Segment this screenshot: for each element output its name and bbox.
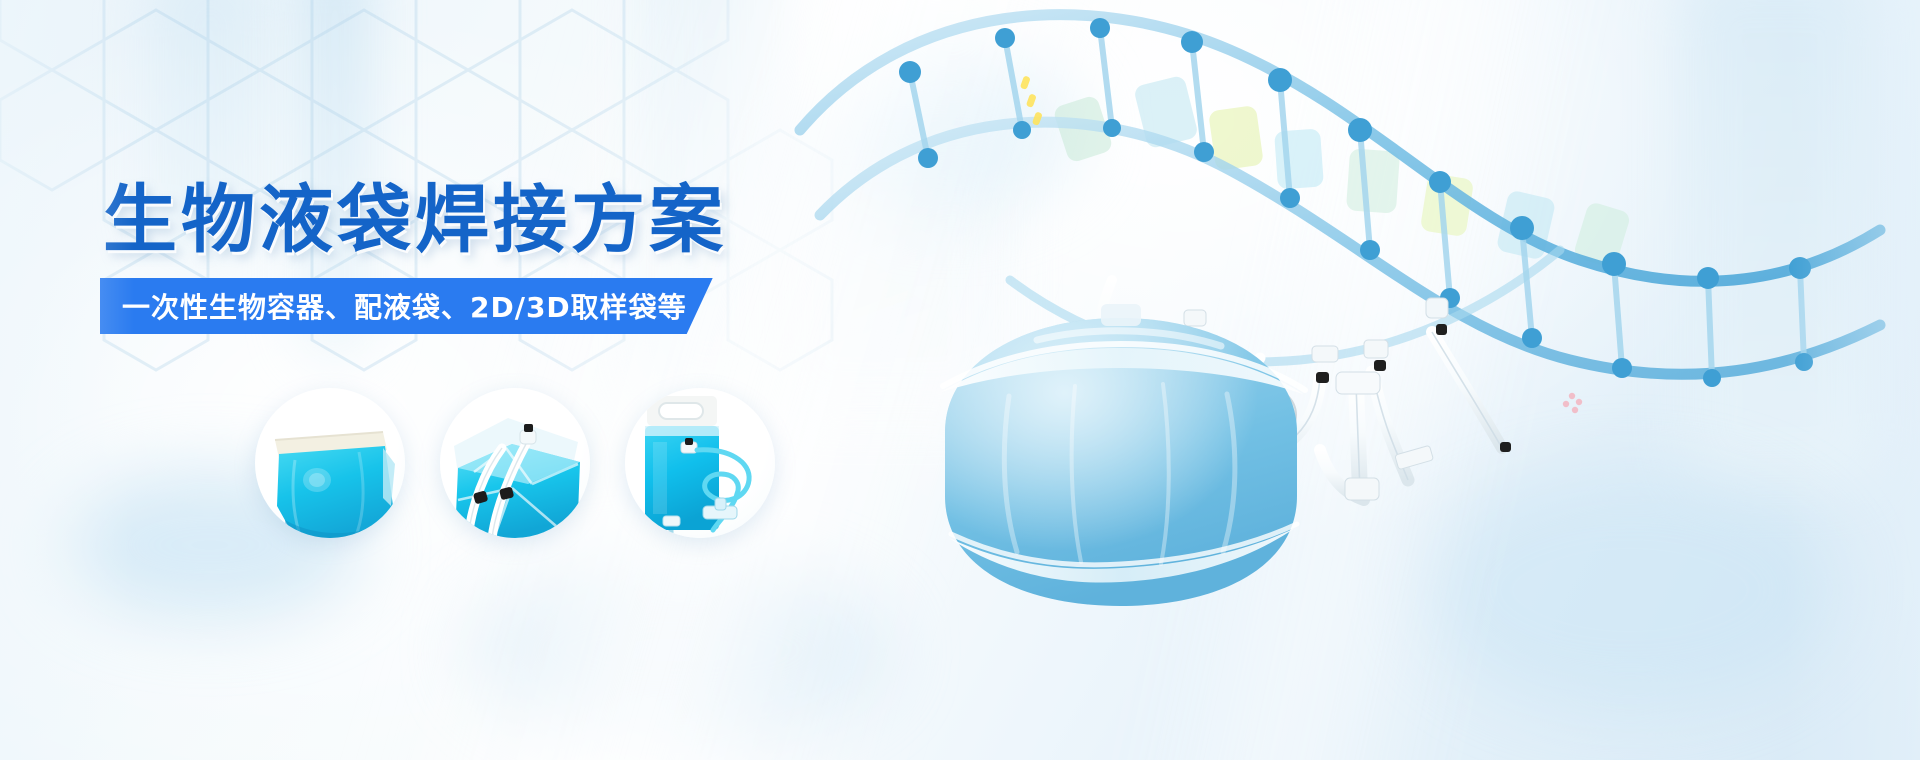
page-title: 生物液袋焊接方案 <box>103 183 727 257</box>
thumbnail-sampling-bag[interactable] <box>625 388 775 538</box>
subtitle-banner: 一次性生物容器、配液袋、2D/3D取样袋等 <box>100 278 713 334</box>
hero-banner: 生物液袋焊接方案 一次性生物容器、配液袋、2D/3D取样袋等 <box>0 0 1920 760</box>
sampling-bag-with-coiled-tube-icon <box>625 388 775 538</box>
thumbnail-2d-flat-liquid-bag[interactable] <box>255 388 405 538</box>
3d-cube-bag-with-tubing-icon <box>440 388 590 538</box>
large-bioreactor-bag <box>905 300 1335 620</box>
2d-flat-liquid-bag-icon <box>255 388 405 538</box>
thumbnail-3d-cube-bag[interactable] <box>440 388 590 538</box>
product-thumbnail-group <box>255 388 855 558</box>
